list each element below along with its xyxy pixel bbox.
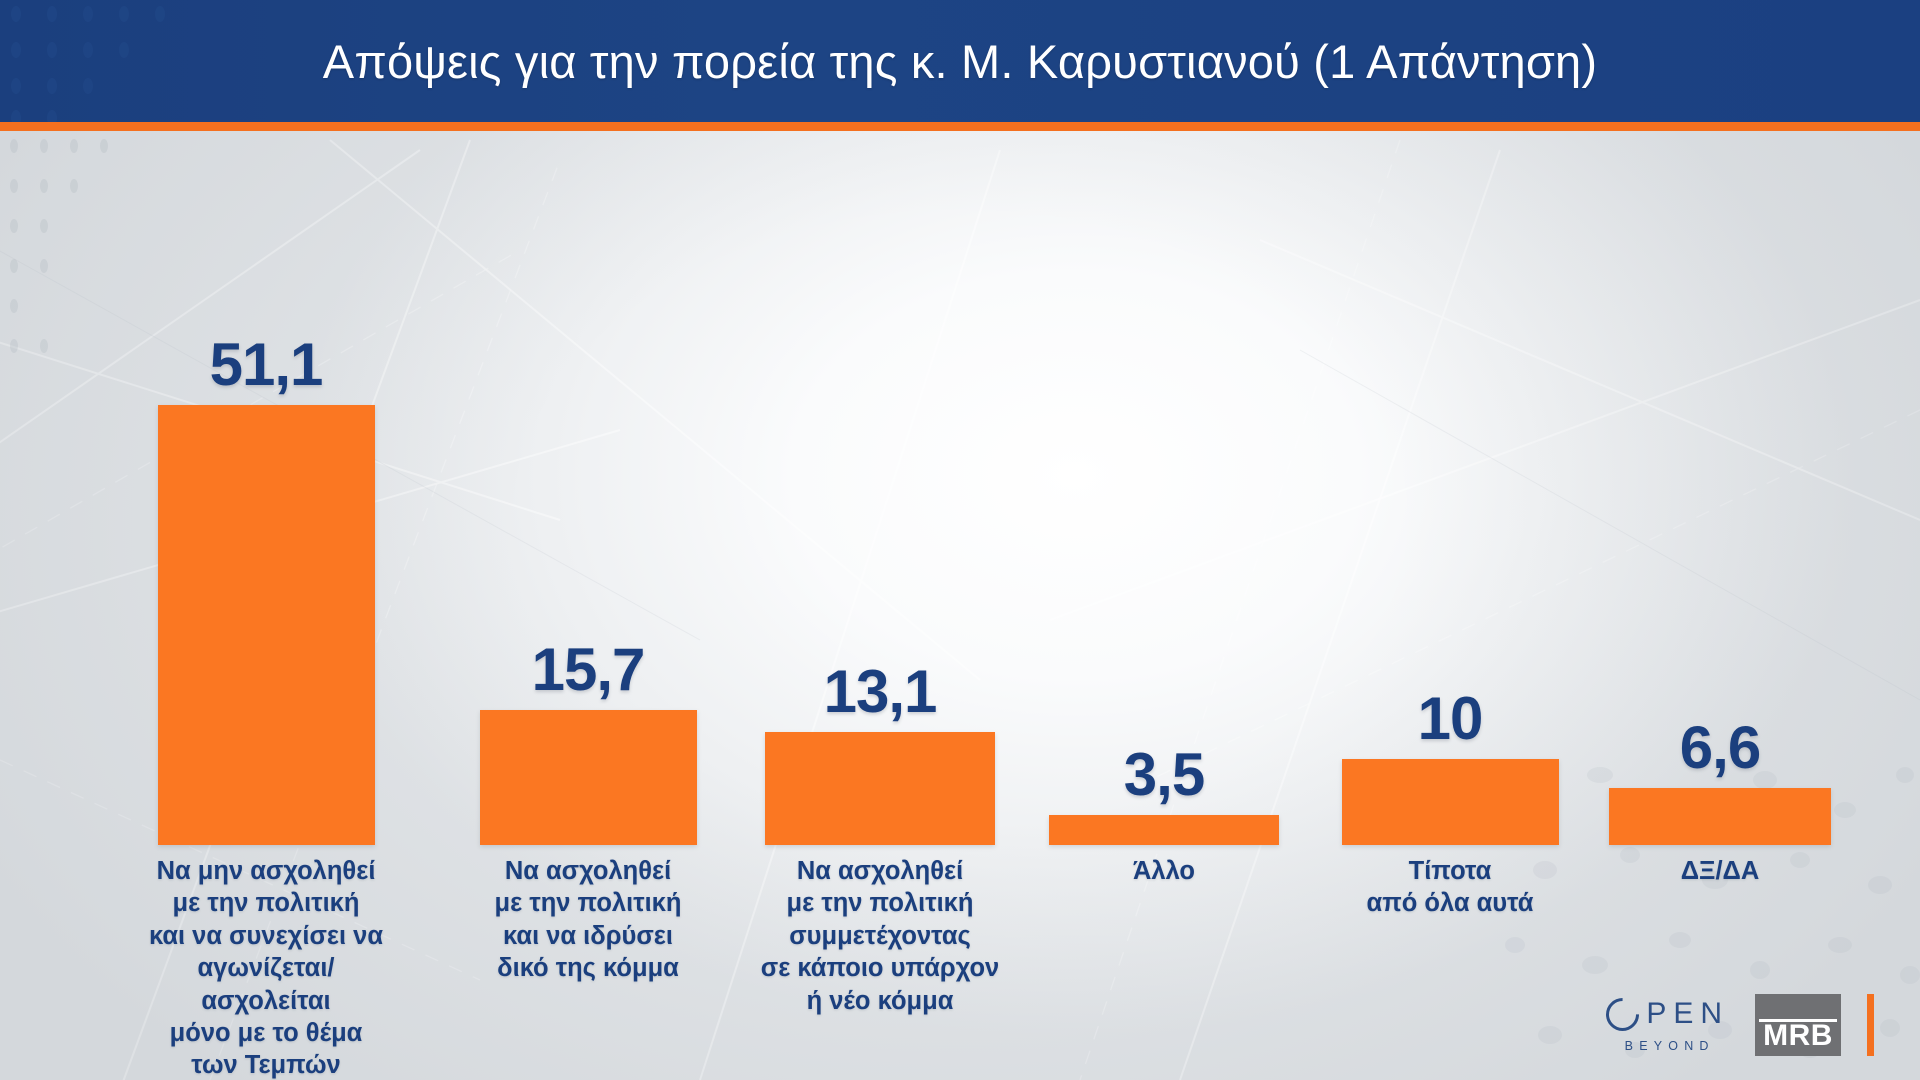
- category-label: Να μην ασχοληθείμε την πολιτικήκαι να συ…: [142, 855, 391, 1080]
- category-label-line: Να ασχοληθεί: [464, 855, 713, 887]
- category-label-line: με την πολιτική: [464, 887, 713, 919]
- category-label: Να ασχοληθείμε την πολιτικήκαι να ιδρύσε…: [464, 855, 713, 985]
- category-label-line: δικό της κόμμα: [464, 952, 713, 984]
- bar[interactable]: [1609, 788, 1831, 845]
- category-label-line: και να ιδρύσει: [464, 920, 713, 952]
- category-label-line: αγωνίζεται/ασχολείται: [142, 952, 391, 1017]
- bar-group: 51,1: [158, 171, 375, 845]
- category-label-line: Τίποτα: [1326, 855, 1575, 887]
- chart-column: 6,6ΔΞ/ΔΑ: [1609, 171, 1831, 1080]
- chart-column: 3,5Άλλο: [1049, 171, 1279, 1080]
- bar-value-label: 10: [1418, 688, 1483, 749]
- category-label-line: με την πολιτική: [142, 887, 391, 919]
- bar[interactable]: [1342, 759, 1559, 845]
- chart-column: 15,7Να ασχοληθείμε την πολιτικήκαι να ιδ…: [480, 171, 697, 1080]
- category-label-line: μόνο με το θέμα: [142, 1017, 391, 1049]
- chart-column: 10Τίποτααπό όλα αυτά: [1342, 171, 1559, 1080]
- footer-logos: PEN BEYOND MRB: [1606, 994, 1874, 1056]
- category-label-line: Άλλο: [1033, 855, 1295, 887]
- header-accent-rule: [0, 122, 1920, 131]
- category-label-line: σε κάποιο υπάρχον: [749, 952, 1011, 984]
- open-logo-tagline: BEYOND: [1625, 1040, 1715, 1053]
- chart-plot-area: 51,1Να μην ασχοληθείμε την πολιτικήκαι ν…: [60, 171, 1860, 1080]
- chart-column: 13,1Να ασχοληθείμε την πολιτικήσυμμετέχο…: [765, 171, 995, 1080]
- mrb-logo-label: MRB: [1755, 1019, 1841, 1053]
- bar-group: 15,7: [480, 171, 697, 845]
- chart-column: 51,1Να μην ασχοληθείμε την πολιτικήκαι ν…: [158, 171, 375, 1080]
- bar[interactable]: [158, 405, 375, 845]
- bar-chart: 51,1Να μην ασχοληθείμε την πολιτικήκαι ν…: [0, 131, 1920, 1080]
- category-label: Να ασχοληθείμε την πολιτικήσυμμετέχοντας…: [749, 855, 1011, 1017]
- category-label-line: Να ασχοληθεί: [749, 855, 1011, 887]
- slide-root: Απόψεις για την πορεία της κ. Μ. Καρυστι…: [0, 0, 1920, 1080]
- bar[interactable]: [1049, 815, 1279, 845]
- bar-value-label: 3,5: [1124, 744, 1204, 805]
- open-o-icon: [1599, 991, 1646, 1038]
- category-label-line: συμμετέχοντας: [749, 920, 1011, 952]
- bar-group: 6,6: [1609, 171, 1831, 845]
- bar-group: 10: [1342, 171, 1559, 845]
- category-label-line: με την πολιτική: [749, 887, 1011, 919]
- bar-group: 13,1: [765, 171, 995, 845]
- bar[interactable]: [765, 732, 995, 845]
- category-label-line: από όλα αυτά: [1326, 887, 1575, 919]
- mrb-logo: MRB: [1755, 994, 1841, 1056]
- category-label-line: Να μην ασχοληθεί: [142, 855, 391, 887]
- page-title: Απόψεις για την πορεία της κ. Μ. Καρυστι…: [0, 0, 1920, 122]
- open-logo-letters: PEN: [1646, 999, 1729, 1029]
- category-label-line: και να συνεχίσει να: [142, 920, 391, 952]
- category-label: Τίποτααπό όλα αυτά: [1326, 855, 1575, 920]
- category-label: ΔΞ/ΔΑ: [1593, 855, 1847, 887]
- category-label-line: ή νέο κόμμα: [749, 985, 1011, 1017]
- header-bar: Απόψεις για την πορεία της κ. Μ. Καρυστι…: [0, 0, 1920, 122]
- open-beyond-logo: PEN BEYOND: [1606, 998, 1729, 1053]
- bar-value-label: 13,1: [824, 661, 937, 722]
- bar[interactable]: [480, 710, 697, 845]
- bar-group: 3,5: [1049, 171, 1279, 845]
- bar-value-label: 51,1: [210, 334, 323, 395]
- orange-accent-tick: [1867, 994, 1874, 1056]
- category-label-line: των Τεμπών: [142, 1049, 391, 1080]
- category-label: Άλλο: [1033, 855, 1295, 887]
- bar-value-label: 15,7: [532, 639, 645, 700]
- category-label-line: ΔΞ/ΔΑ: [1593, 855, 1847, 887]
- bar-value-label: 6,6: [1680, 717, 1760, 778]
